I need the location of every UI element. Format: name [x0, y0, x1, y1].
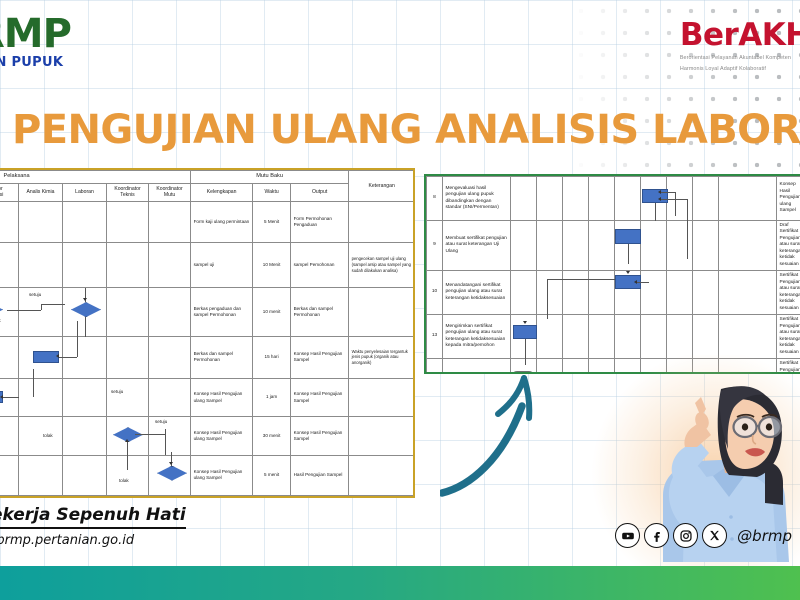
flow-arrowhead: [125, 439, 129, 442]
flow-line: [7, 310, 41, 311]
flow-line: [637, 282, 649, 283]
footer-tagline: n Bekerja Sepenuh Hati: [0, 505, 186, 529]
flow-label-tolak: tolak: [119, 478, 129, 484]
flow-arrowhead: [658, 197, 661, 201]
zoom-lane-8-r10: [693, 271, 719, 315]
lane-laboran-r2: [63, 242, 107, 287]
table-group-header-row: Pelaksana Mutu Baku Keterangan: [0, 171, 415, 184]
table-row: tolak Konsep Hasil Pengujian ulang Sampe…: [0, 455, 415, 495]
lane-koor-teknis-r2: [107, 242, 149, 287]
lane-koor-teknis-r3: [107, 288, 149, 336]
x-icon[interactable]: [702, 523, 727, 548]
flow-decision: [71, 302, 101, 317]
zoom-lane-1-r13: [511, 315, 537, 359]
flow-line: [655, 203, 656, 221]
flow-line: [41, 304, 42, 310]
zoom-lane-3-r13: [563, 315, 589, 359]
flow-line: [33, 369, 34, 397]
header-koordinator-administrasi: Koordinator Administrasi: [0, 183, 19, 202]
cell-kelengkapan: Berkas pengaduan dan sampel Permohonan: [191, 288, 253, 336]
lane-koor-mutu-r6: setuju: [149, 417, 191, 455]
zoom-lane-3-r9: [563, 221, 589, 271]
zoom-lane-1-r9: [511, 221, 537, 271]
flow-line: [628, 244, 629, 264]
flow-label-tolak: tolak: [0, 318, 1, 324]
brmp-logo: RMP DAN PUPUK: [0, 14, 71, 69]
cell-output: Konsep Hasil Pengujian Sampel: [291, 378, 349, 416]
zoom-cell-kegiatan: Membuat sertifikat pengujian atau surat …: [443, 221, 511, 271]
cell-keterangan: [349, 378, 415, 416]
flow-line: [675, 192, 676, 216]
zoom-lane-6-r13: [641, 315, 667, 359]
flow-arrowhead: [83, 298, 87, 301]
lane-analis-r6: tolak: [19, 417, 63, 455]
zoom-cell-output: Konsep Hasil Pengujian ulang Sampel: [777, 177, 800, 221]
cell-keterangan: Waktu penyelesaian tergantuk jenis pupuk…: [349, 336, 415, 378]
flow-arrowhead: [0, 395, 3, 399]
zoom-lane-6-r9: [641, 221, 667, 271]
zoom-lane-1-r10: [511, 271, 537, 315]
lane-koor-adm-r6: [0, 417, 19, 455]
zoom-lane-1-r8: [511, 177, 537, 221]
page-title: P PENGUJIAN ULANG ANALISIS LABORATORI: [0, 107, 800, 153]
table-row: setuju Konsep Hasil Pengujian ulang Samp…: [0, 378, 415, 416]
cell-output: Berkas dan sampel Permohonan: [291, 288, 349, 336]
table-row: 9 Membuat sertifikat pengujian atau sura…: [427, 221, 800, 271]
zoomed-detail-panel: 8 Mengevaluasi hasil pengujian ulang pup…: [424, 174, 800, 374]
zoom-lane-4-r10: [589, 271, 615, 315]
zoom-cell-kegiatan: Mengevaluasi hasil pengujian ulang pupuk…: [443, 177, 511, 221]
cell-keterangan: pengecekan sampel uji ulang (sampel arsi…: [349, 242, 415, 287]
zoom-lane-5-r13: [615, 315, 641, 359]
cell-waktu: 1 jam: [253, 378, 291, 416]
header-mutu-baku: Mutu Baku: [191, 171, 349, 184]
flow-line: [165, 429, 166, 455]
table-row: setuju sampel uji 10 Menit sampel Pemoho…: [0, 242, 415, 287]
lane-analis-r3: setuju: [19, 288, 63, 336]
footer-tagline-block: n Bekerja Sepenuh Hati upuk.brmp.pertani…: [0, 505, 186, 548]
zoom-lane-7-r9: [667, 221, 693, 271]
flow-label-setuju: setuju: [155, 419, 167, 425]
lane-koor-mutu-r2: [149, 242, 191, 287]
flow-line: [77, 321, 78, 357]
flow-label-setuju: setuju: [111, 389, 123, 395]
berakhlak-logo: BerAKHL Berorientasi Pelayanan Akuntabel…: [680, 20, 800, 73]
lane-laboran-r3: [63, 288, 107, 336]
zoom-lane-9-r10: [719, 271, 777, 315]
lane-laboran-r7: [63, 455, 107, 495]
lane-laboran-r4: [63, 336, 107, 378]
lane-analis-r4: [19, 336, 63, 378]
flow-decision: [0, 302, 3, 317]
header-laboran: Laboran: [63, 183, 107, 202]
zoom-lane-5-r8: [615, 177, 641, 221]
lane-laboran-r5: [63, 378, 107, 416]
flow-arrowhead: [658, 190, 661, 194]
zoom-lane-4-r8: [589, 177, 615, 221]
lane-koor-teknis-r4: [107, 336, 149, 378]
cell-kelengkapan: sampel uji: [191, 242, 253, 287]
flow-process: [615, 229, 641, 244]
zoom-lane-3-r10: [563, 271, 589, 315]
youtube-icon[interactable]: [615, 523, 640, 548]
header-waktu: Waktu: [253, 183, 291, 202]
table-row: 13 Mengirimkan sertifikat pengujian ulan…: [427, 315, 800, 359]
flow-process: [513, 325, 537, 339]
berakhlak-title: BerAKHL: [680, 20, 800, 51]
lane-laboran-r6: [63, 417, 107, 455]
flow-decision: [157, 466, 187, 481]
cell-output: sampel Pemohonan: [291, 242, 349, 287]
flow-arrowhead: [634, 280, 637, 284]
header-analis-kimia: Analis Kimia: [19, 183, 63, 202]
flow-line: [3, 397, 19, 398]
flow-label-tolak: tolak: [43, 433, 53, 439]
cell-keterangan: [349, 202, 415, 242]
zoom-cell-no: 13: [427, 315, 443, 359]
cell-waktu: 5 Menit: [253, 202, 291, 242]
header-output: Output: [291, 183, 349, 202]
lane-koor-mutu-r7: [149, 455, 191, 495]
zoom-lane-4-r9: [589, 221, 615, 271]
zoom-lane-4-r13: [589, 315, 615, 359]
zoom-lane-5-r10: [615, 271, 641, 315]
lane-laboran-r1: [63, 202, 107, 242]
footer-website[interactable]: upuk.brmp.pertanian.go.id: [0, 533, 186, 548]
facebook-icon[interactable]: [644, 523, 669, 548]
cell-waktu: 10 Menit: [253, 242, 291, 287]
social-handle: @brmp: [737, 527, 792, 545]
cell-waktu: 5 menit: [253, 455, 291, 495]
cell-waktu: 15 hari: [253, 336, 291, 378]
flow-arrowhead: [169, 462, 173, 465]
lane-koor-mutu-r5: [149, 378, 191, 416]
zoom-lane-9-r13: [719, 315, 777, 359]
zoom-cell-kegiatan: Menandatangani sertifikat pengujian ulan…: [443, 271, 511, 315]
lane-koor-teknis-r6: [107, 417, 149, 455]
lane-koor-adm-r5: [0, 378, 19, 416]
social-links: @brmp: [615, 523, 792, 548]
cell-kelengkapan: Konsep Hasil Pengujian ulang Sampel: [191, 417, 253, 455]
cell-kelengkapan: Berkas dan sampel Permohonan: [191, 336, 253, 378]
cell-keterangan: [349, 455, 415, 495]
zoom-lane-7-r10: [667, 271, 693, 315]
cell-keterangan: [349, 417, 415, 455]
zoom-lane-8-r8: [693, 177, 719, 221]
berakhlak-sub-line2: Harmonis Loyal Adaptif Kolaboratif: [680, 65, 800, 73]
cell-output: Konsep Hasil Pengujian Sampel: [291, 336, 349, 378]
header-koordinator-teknis: Koordinator Teknis: [107, 183, 149, 202]
cell-kelengkapan: Konsep Hasil Pengujian ulang Sampel: [191, 455, 253, 495]
lane-koor-mutu-r4: [149, 336, 191, 378]
lane-koor-adm-r4: [0, 336, 19, 378]
cell-output: Konsep Hasil Pengujian Sampel: [291, 417, 349, 455]
brmp-logo-sub: DAN PUPUK: [0, 56, 71, 69]
table-row: Berkas dan sampel Permohonan 15 hari Kon…: [0, 336, 415, 378]
lane-analis-r7: [19, 455, 63, 495]
lane-koor-adm-r2: setuju: [0, 242, 19, 287]
flow-line: [41, 304, 65, 305]
zoom-cell-output: Sertifikat Pengujian atau surat keterang…: [777, 315, 800, 359]
zoom-lane-6-r10: [641, 271, 667, 315]
zoom-cell-no: 10: [427, 271, 443, 315]
header-pelaksana: Pelaksana: [0, 171, 191, 184]
instagram-icon[interactable]: [673, 523, 698, 548]
zoom-cell-output: Sertifikat Pengujian atau surat keterang…: [777, 271, 800, 315]
lane-analis-r1: [19, 202, 63, 242]
flow-line: [547, 279, 548, 319]
table-row: 8 Mengevaluasi hasil pengujian ulang pup…: [427, 177, 800, 221]
cell-keterangan: [349, 288, 415, 336]
sop-table: Pelaksana Mutu Baku Keterangan mohon Sta…: [0, 170, 415, 496]
header-kelengkapan: Kelengkapan: [191, 183, 253, 202]
footer-gradient-bar: [0, 566, 800, 600]
zoom-cell-no: 9: [427, 221, 443, 271]
table-row: 10 Menandatangani sertifikat pengujian u…: [427, 271, 800, 315]
lane-koor-mutu-r3: [149, 288, 191, 336]
table-row: tolak tolak setuju: [0, 288, 415, 336]
zoom-table: 8 Mengevaluasi hasil pengujian ulang pup…: [426, 176, 800, 374]
zoom-lane-9-r9: [719, 221, 777, 271]
lane-koor-teknis-r1: [107, 202, 149, 242]
cell-kelengkapan: Form kaji ulang permintaan: [191, 202, 253, 242]
zoom-lane-9-r8: [719, 177, 777, 221]
brmp-logo-main: RMP: [0, 14, 71, 54]
lane-analis-r2: [19, 242, 63, 287]
header-keterangan: Keterangan: [349, 171, 415, 202]
flow-arrowhead: [626, 271, 630, 274]
sop-flowchart-panel: Pelaksana Mutu Baku Keterangan mohon Sta…: [0, 168, 415, 498]
lane-koor-adm-r7: [0, 455, 19, 495]
zoom-cell-kegiatan: Mengirimkan sertifikat pengujian ulang a…: [443, 315, 511, 359]
cell-output: Hasil Pengujian Sampel: [291, 455, 349, 495]
zoom-lane-8-r13: [693, 315, 719, 359]
cell-waktu: 30 menit: [253, 417, 291, 455]
cell-output: Form Permohonan Pengaduan: [291, 202, 349, 242]
lane-koor-teknis-r7: tolak: [107, 455, 149, 495]
cell-kelengkapan: Konsep Hasil Pengujian ulang Sampel: [191, 378, 253, 416]
flow-line: [85, 317, 86, 337]
header-koordinator-mutu: Koordinator Mutu: [149, 183, 191, 202]
flow-line: [661, 199, 687, 200]
zoom-lane-8-r9: [693, 221, 719, 271]
zoom-lane-2-r13: [537, 315, 563, 359]
flow-line: [661, 192, 675, 193]
flow-line: [135, 434, 165, 435]
lane-koor-teknis-r5: setuju: [107, 378, 149, 416]
zoom-lane-7-r8: [667, 177, 693, 221]
zoom-lane-2-r9: [537, 221, 563, 271]
zoom-cell-output: Draf Sertifikat Pengujian atau surat ket…: [777, 221, 800, 271]
lane-analis-r5: [19, 378, 63, 416]
table-row: setuju Form kaji ulang permintaan 5 Meni…: [0, 202, 415, 242]
lane-koor-mutu-r1: [149, 202, 191, 242]
cell-waktu: 10 menit: [253, 288, 291, 336]
zoom-cell-no: 8: [427, 177, 443, 221]
zoom-lane-2-r8: [537, 177, 563, 221]
zoom-lane-7-r13: [667, 315, 693, 359]
lane-koor-adm-r1: [0, 202, 19, 242]
flow-line: [127, 452, 128, 470]
zoom-lane-2-r10: [537, 271, 563, 315]
zoom-lane-3-r8: [563, 177, 589, 221]
table-row: tolak setuju Konsep Hasil Pengujian ulan…: [0, 417, 415, 455]
flow-arrowhead: [523, 321, 527, 324]
berakhlak-sub-line1: Berorientasi Pelayanan Akuntabel Kompete…: [680, 54, 800, 62]
lane-koor-adm-r3: tolak: [0, 288, 19, 336]
flow-label-setuju: setuju: [29, 292, 41, 298]
flow-arrowhead: [56, 354, 59, 358]
zoom-lane-5-r9: [615, 221, 641, 271]
